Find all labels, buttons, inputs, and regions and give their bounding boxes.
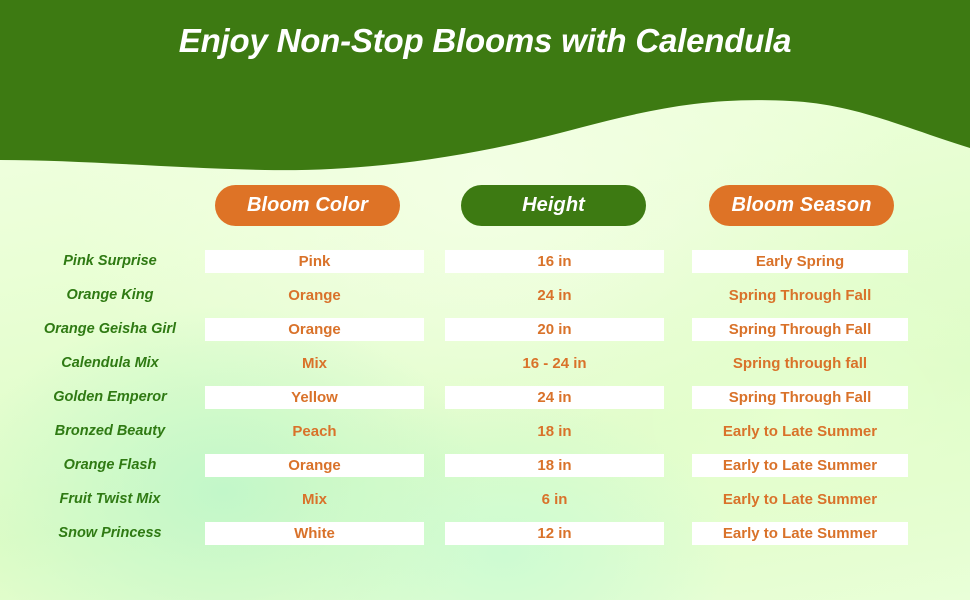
cell-height: 18 in xyxy=(445,420,664,443)
comparison-table: Bloom Color Height Bloom Season Pink Sur… xyxy=(0,0,970,600)
table-row: Snow Princess White 12 in Early to Late … xyxy=(0,522,970,552)
cell-bloom-season: Early to Late Summer xyxy=(692,488,908,511)
cell-bloom-season: Early to Late Summer xyxy=(692,420,908,443)
table-row: Calendula Mix Mix 16 - 24 in Spring thro… xyxy=(0,352,970,382)
row-label: Golden Emperor xyxy=(20,386,200,409)
table-row: Fruit Twist Mix Mix 6 in Early to Late S… xyxy=(0,488,970,518)
column-header-label: Height xyxy=(522,194,585,217)
table-row: Orange Geisha Girl Orange 20 in Spring T… xyxy=(0,318,970,348)
row-label: Orange King xyxy=(20,284,200,307)
cell-bloom-color: Yellow xyxy=(205,386,424,409)
cell-bloom-color: Mix xyxy=(205,352,424,375)
cell-bloom-color: Orange xyxy=(205,284,424,307)
row-label: Bronzed Beauty xyxy=(20,420,200,443)
cell-height: 16 - 24 in xyxy=(445,352,664,375)
column-header-label: Bloom Season xyxy=(731,194,871,217)
cell-bloom-season: Spring Through Fall xyxy=(692,386,908,409)
cell-bloom-color: Peach xyxy=(205,420,424,443)
column-header-height: Height xyxy=(461,185,646,226)
table-row: Bronzed Beauty Peach 18 in Early to Late… xyxy=(0,420,970,450)
cell-bloom-color: Orange xyxy=(205,454,424,477)
cell-height: 24 in xyxy=(445,284,664,307)
row-label: Orange Flash xyxy=(20,454,200,477)
page-title: Enjoy Non-Stop Blooms with Calendula xyxy=(0,22,970,60)
cell-height: 18 in xyxy=(445,454,664,477)
table-row: Golden Emperor Yellow 24 in Spring Throu… xyxy=(0,386,970,416)
cell-bloom-color: White xyxy=(205,522,424,545)
row-label: Fruit Twist Mix xyxy=(20,488,200,511)
cell-height: 20 in xyxy=(445,318,664,341)
cell-bloom-season: Spring Through Fall xyxy=(692,318,908,341)
cell-height: 24 in xyxy=(445,386,664,409)
cell-bloom-season: Early to Late Summer xyxy=(692,522,908,545)
cell-bloom-season: Spring through fall xyxy=(692,352,908,375)
table-row: Orange Flash Orange 18 in Early to Late … xyxy=(0,454,970,484)
cell-bloom-season: Spring Through Fall xyxy=(692,284,908,307)
cell-bloom-color: Mix xyxy=(205,488,424,511)
table-row: Orange King Orange 24 in Spring Through … xyxy=(0,284,970,314)
cell-bloom-season: Early to Late Summer xyxy=(692,454,908,477)
table-row: Pink Surprise Pink 16 in Early Spring xyxy=(0,250,970,280)
cell-height: 6 in xyxy=(445,488,664,511)
cell-bloom-color: Orange xyxy=(205,318,424,341)
cell-bloom-season: Early Spring xyxy=(692,250,908,273)
cell-bloom-color: Pink xyxy=(205,250,424,273)
row-label: Orange Geisha Girl xyxy=(20,318,200,341)
row-label: Pink Surprise xyxy=(20,250,200,273)
column-header-bloom-color: Bloom Color xyxy=(215,185,400,226)
column-header-bloom-season: Bloom Season xyxy=(709,185,894,226)
cell-height: 16 in xyxy=(445,250,664,273)
row-label: Snow Princess xyxy=(20,522,200,545)
column-header-label: Bloom Color xyxy=(247,194,368,217)
row-label: Calendula Mix xyxy=(20,352,200,375)
cell-height: 12 in xyxy=(445,522,664,545)
